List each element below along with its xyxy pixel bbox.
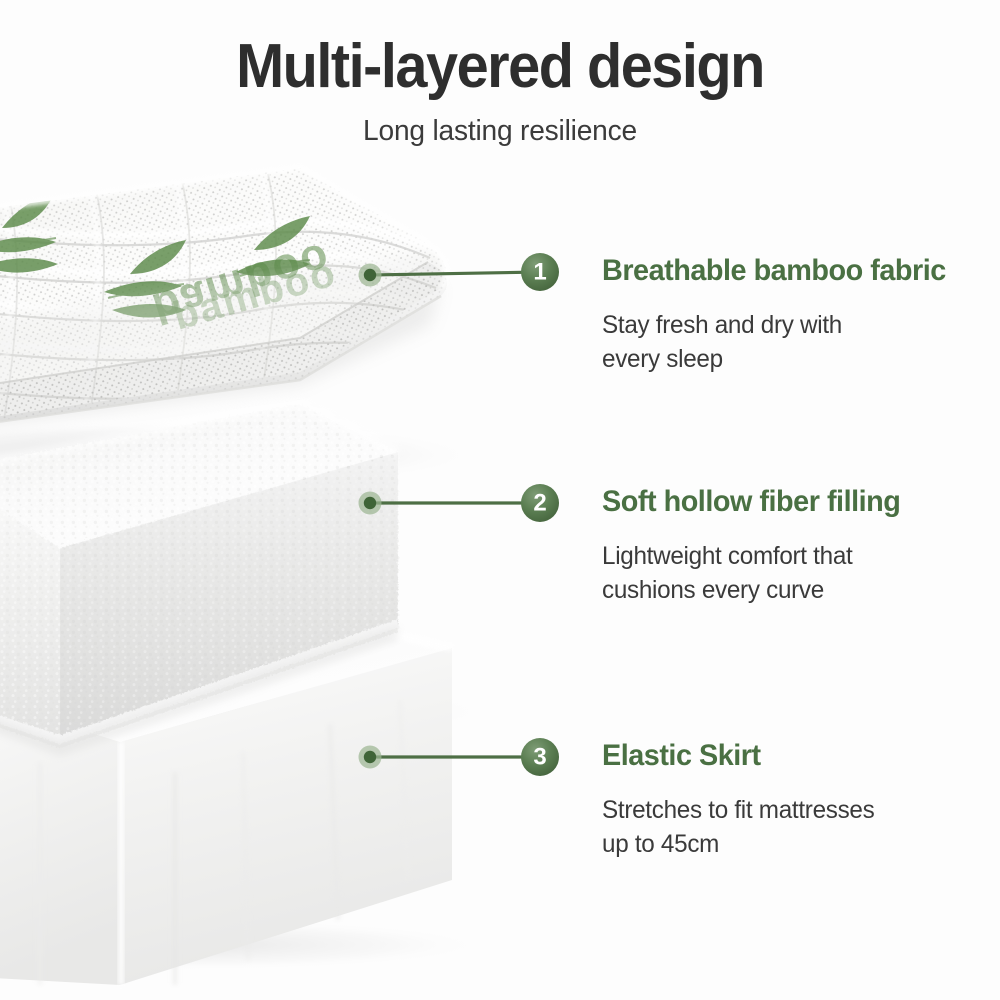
anchor-dot-3 <box>364 751 376 763</box>
callout-1-heading: Breathable bamboo fabric <box>602 254 946 288</box>
callout-1-body: Stay fresh and dry with every sleep <box>602 308 842 376</box>
anchor-dot-1 <box>364 269 376 281</box>
badge-number-2: 2 <box>533 490 546 517</box>
callout-2-body-line-1: Lightweight comfort that <box>602 539 852 573</box>
callout-leader-3 <box>359 738 560 776</box>
callout-1-body-line-2: every sleep <box>602 342 842 376</box>
badge-number-1: 1 <box>533 259 546 286</box>
callout-2-body: Lightweight comfort that cushions every … <box>602 539 852 607</box>
callout-leader-1 <box>359 253 560 291</box>
callout-2-body-line-2: cushions every curve <box>602 573 852 607</box>
callout-3-body-line-1: Stretches to fit mattresses <box>602 793 874 827</box>
callout-2-heading: Soft hollow fiber filling <box>602 485 900 519</box>
infographic-canvas: bamboo bamboo Multi-layered design Long … <box>0 0 1000 1000</box>
callout-3-body-line-2: up to 45cm <box>602 827 874 861</box>
badge-number-3: 3 <box>533 744 546 771</box>
callout-leader-2 <box>359 484 560 522</box>
anchor-dot-2 <box>364 497 376 509</box>
callout-3-heading: Elastic Skirt <box>602 739 761 773</box>
callout-1-body-line-1: Stay fresh and dry with <box>602 308 842 342</box>
leader-line-1 <box>370 272 540 275</box>
callout-3-body: Stretches to fit mattresses up to 45cm <box>602 793 874 861</box>
